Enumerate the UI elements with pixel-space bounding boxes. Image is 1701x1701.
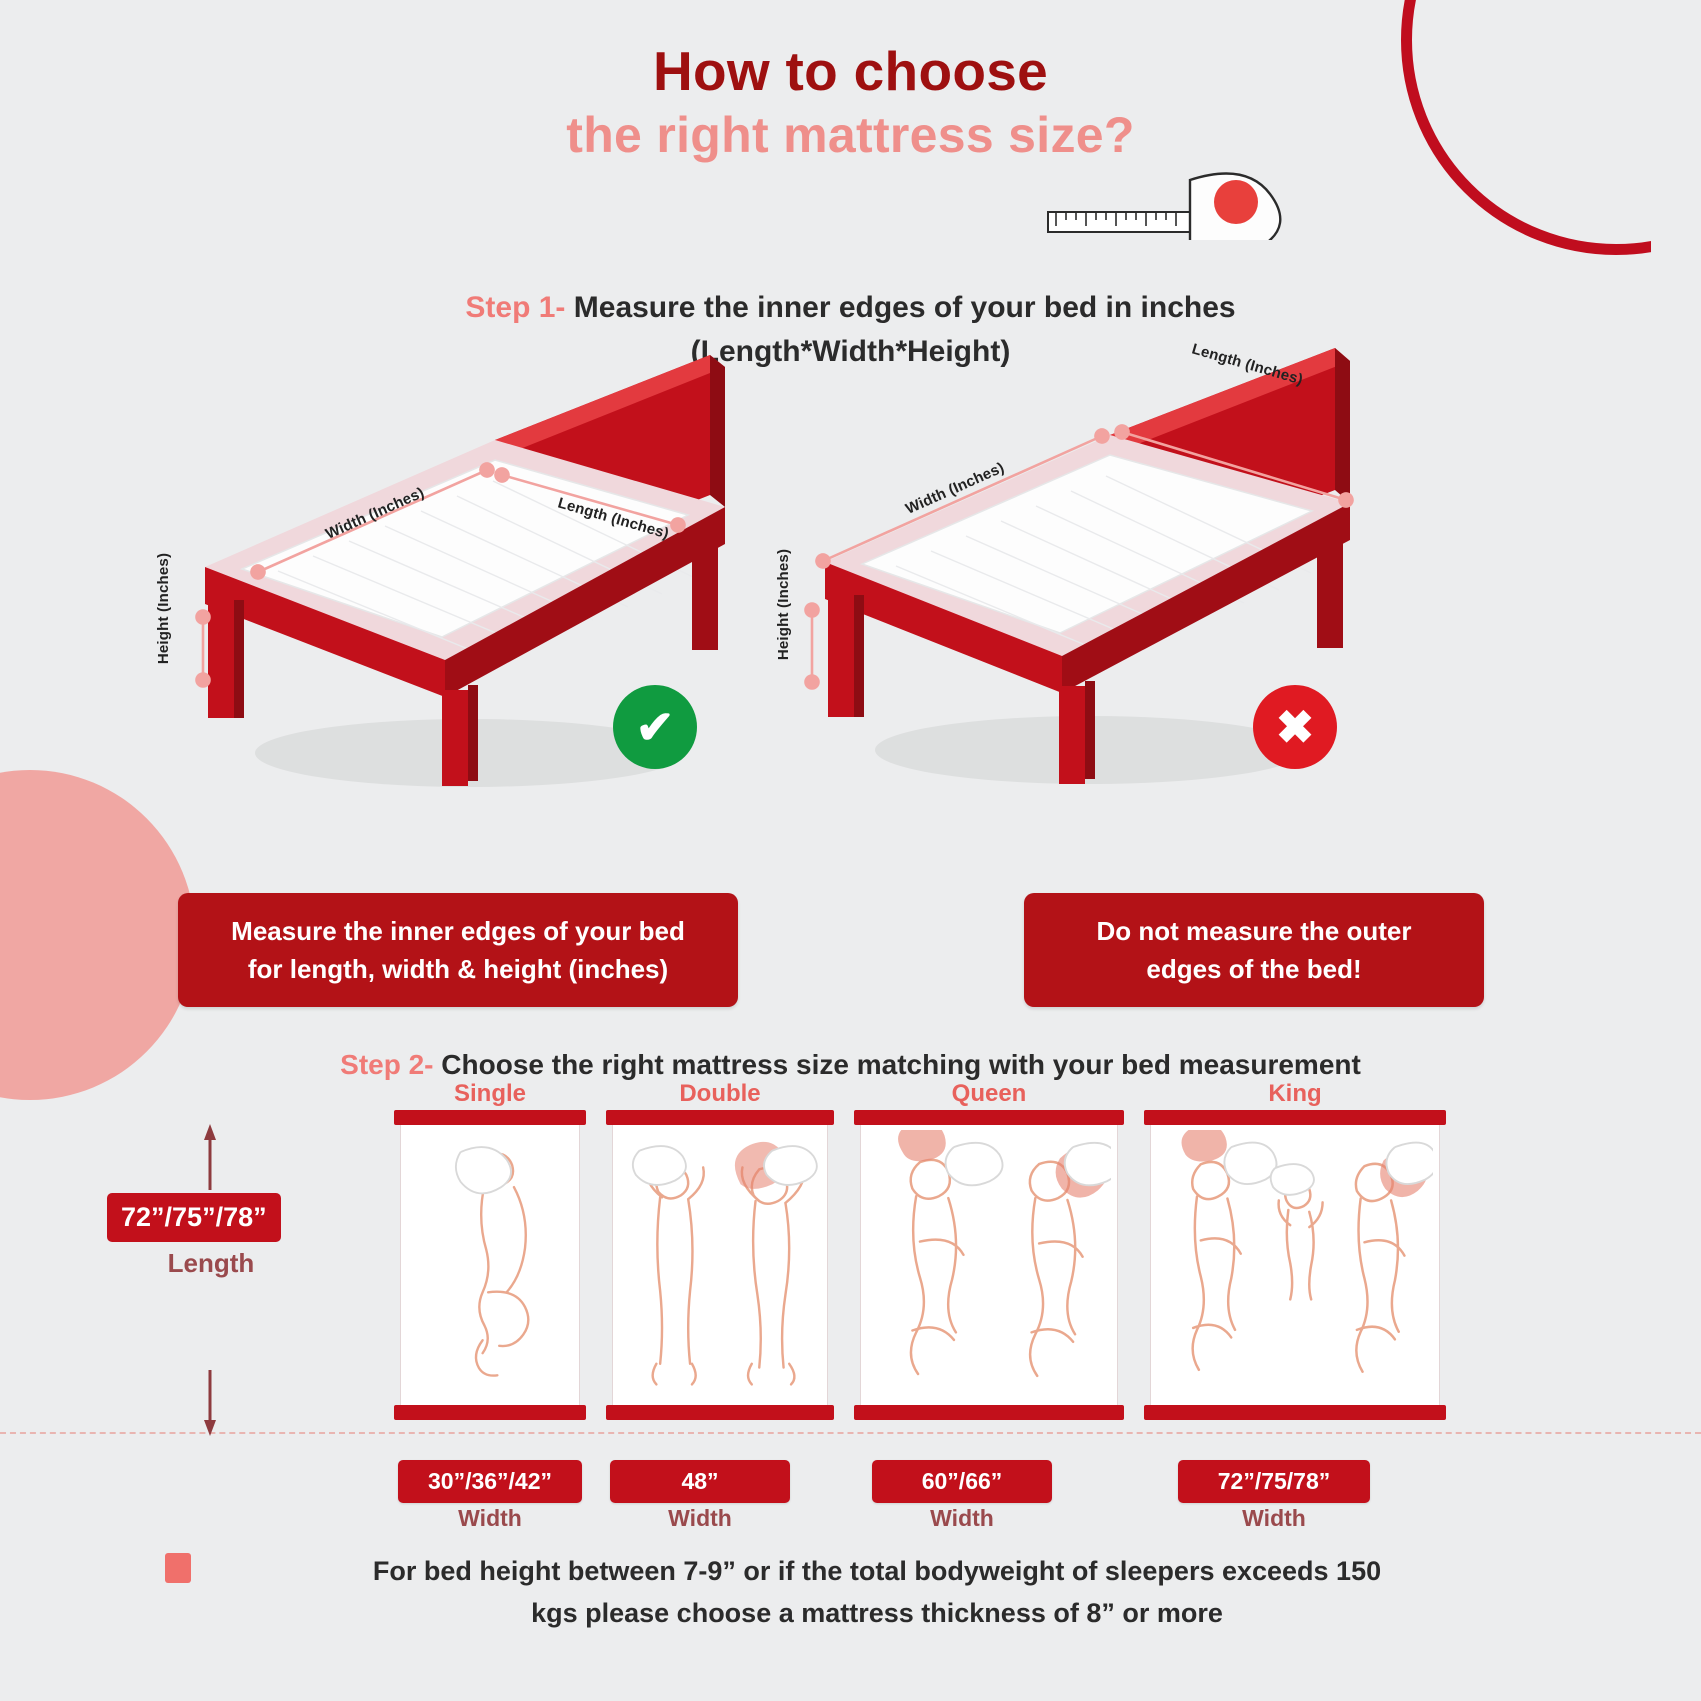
size-bar-bottom-single bbox=[394, 1405, 586, 1420]
width-label-double: Width bbox=[610, 1505, 790, 1532]
incorrect-bed-height-label: Height (Inches) bbox=[775, 549, 792, 660]
sleeper-figures-queen bbox=[867, 1130, 1111, 1395]
size-box-king bbox=[1150, 1115, 1440, 1415]
size-name-queen: Queen bbox=[860, 1080, 1118, 1108]
incorrect-method-banner: Do not measure the outer edges of the be… bbox=[1024, 893, 1484, 1007]
correct-banner-line2: for length, width & height (inches) bbox=[190, 950, 726, 988]
size-box-double bbox=[612, 1115, 828, 1415]
sleeper-figures-double bbox=[619, 1130, 821, 1392]
infographic-root: How to choose the right mattress size? S… bbox=[0, 0, 1701, 1701]
incorrect-banner-line1: Do not measure the outer bbox=[1036, 912, 1472, 950]
step-2-label: Step 2- bbox=[340, 1049, 433, 1080]
size-bar-top-queen bbox=[854, 1110, 1124, 1125]
size-bar-bottom-queen bbox=[854, 1405, 1124, 1420]
width-chip-single: 30”/36”/42” bbox=[398, 1460, 582, 1503]
correct-banner-line1: Measure the inner edges of your bed bbox=[190, 912, 726, 950]
sleeper-figures-king bbox=[1157, 1130, 1433, 1396]
size-bar-top-double bbox=[606, 1110, 834, 1125]
size-box-single bbox=[400, 1115, 580, 1415]
size-box-queen bbox=[860, 1115, 1118, 1415]
correct-bed-height-label: Height (Inches) bbox=[155, 553, 172, 664]
size-bar-top-single bbox=[394, 1110, 586, 1125]
footer-note-line1: For bed height between 7-9” or if the to… bbox=[204, 1550, 1550, 1592]
size-bar-bottom-double bbox=[606, 1405, 834, 1420]
page-title: How to choose the right mattress size? bbox=[0, 38, 1701, 166]
step-2-text: Choose the right mattress size matching … bbox=[441, 1049, 1361, 1080]
width-label-single: Width bbox=[398, 1505, 582, 1532]
step-2-instruction: Step 2- Choose the right mattress size m… bbox=[0, 1049, 1701, 1081]
cross-glyph: ✖ bbox=[1276, 704, 1315, 750]
width-label-king: Width bbox=[1178, 1505, 1370, 1532]
size-name-double: Double bbox=[612, 1080, 828, 1108]
length-arrow-icon bbox=[195, 1120, 225, 1440]
size-column-single[interactable]: Single bbox=[400, 1115, 580, 1445]
page-title-line2: the right mattress size? bbox=[0, 104, 1701, 166]
cross-icon: ✖ bbox=[1253, 685, 1337, 769]
size-bar-top-king bbox=[1144, 1110, 1446, 1125]
size-name-king: King bbox=[1150, 1080, 1440, 1108]
check-glyph: ✔ bbox=[636, 704, 675, 750]
tape-measure-icon bbox=[1040, 150, 1300, 240]
incorrect-banner-line2: edges of the bed! bbox=[1036, 950, 1472, 988]
step-1-label: Step 1- bbox=[465, 291, 565, 324]
step-1-text: Measure the inner edges of your bed in i… bbox=[574, 291, 1236, 324]
width-label-queen: Width bbox=[872, 1505, 1052, 1532]
size-column-double[interactable]: Double bbox=[612, 1115, 828, 1445]
size-column-king[interactable]: King bbox=[1150, 1115, 1440, 1445]
sleeper-figures-single bbox=[407, 1130, 573, 1388]
width-chip-queen: 60”/66” bbox=[872, 1460, 1052, 1503]
footer-note: For bed height between 7-9” or if the to… bbox=[160, 1550, 1550, 1634]
size-bar-bottom-king bbox=[1144, 1405, 1446, 1420]
length-value-chip: 72”/75”/78” bbox=[107, 1193, 281, 1242]
footer-note-line2: kgs please choose a mattress thickness o… bbox=[204, 1592, 1550, 1634]
correct-method-banner: Measure the inner edges of your bed for … bbox=[178, 893, 738, 1007]
width-chip-king: 72”/75/78” bbox=[1178, 1460, 1370, 1503]
check-icon: ✔ bbox=[613, 685, 697, 769]
size-column-queen[interactable]: Queen bbox=[860, 1115, 1118, 1445]
size-name-single: Single bbox=[400, 1080, 580, 1108]
page-title-line1: How to choose bbox=[0, 38, 1701, 104]
width-chip-double: 48” bbox=[610, 1460, 790, 1503]
length-axis-label: Length bbox=[107, 1248, 315, 1279]
mattress-size-comparison: Single Double bbox=[400, 1115, 1380, 1445]
